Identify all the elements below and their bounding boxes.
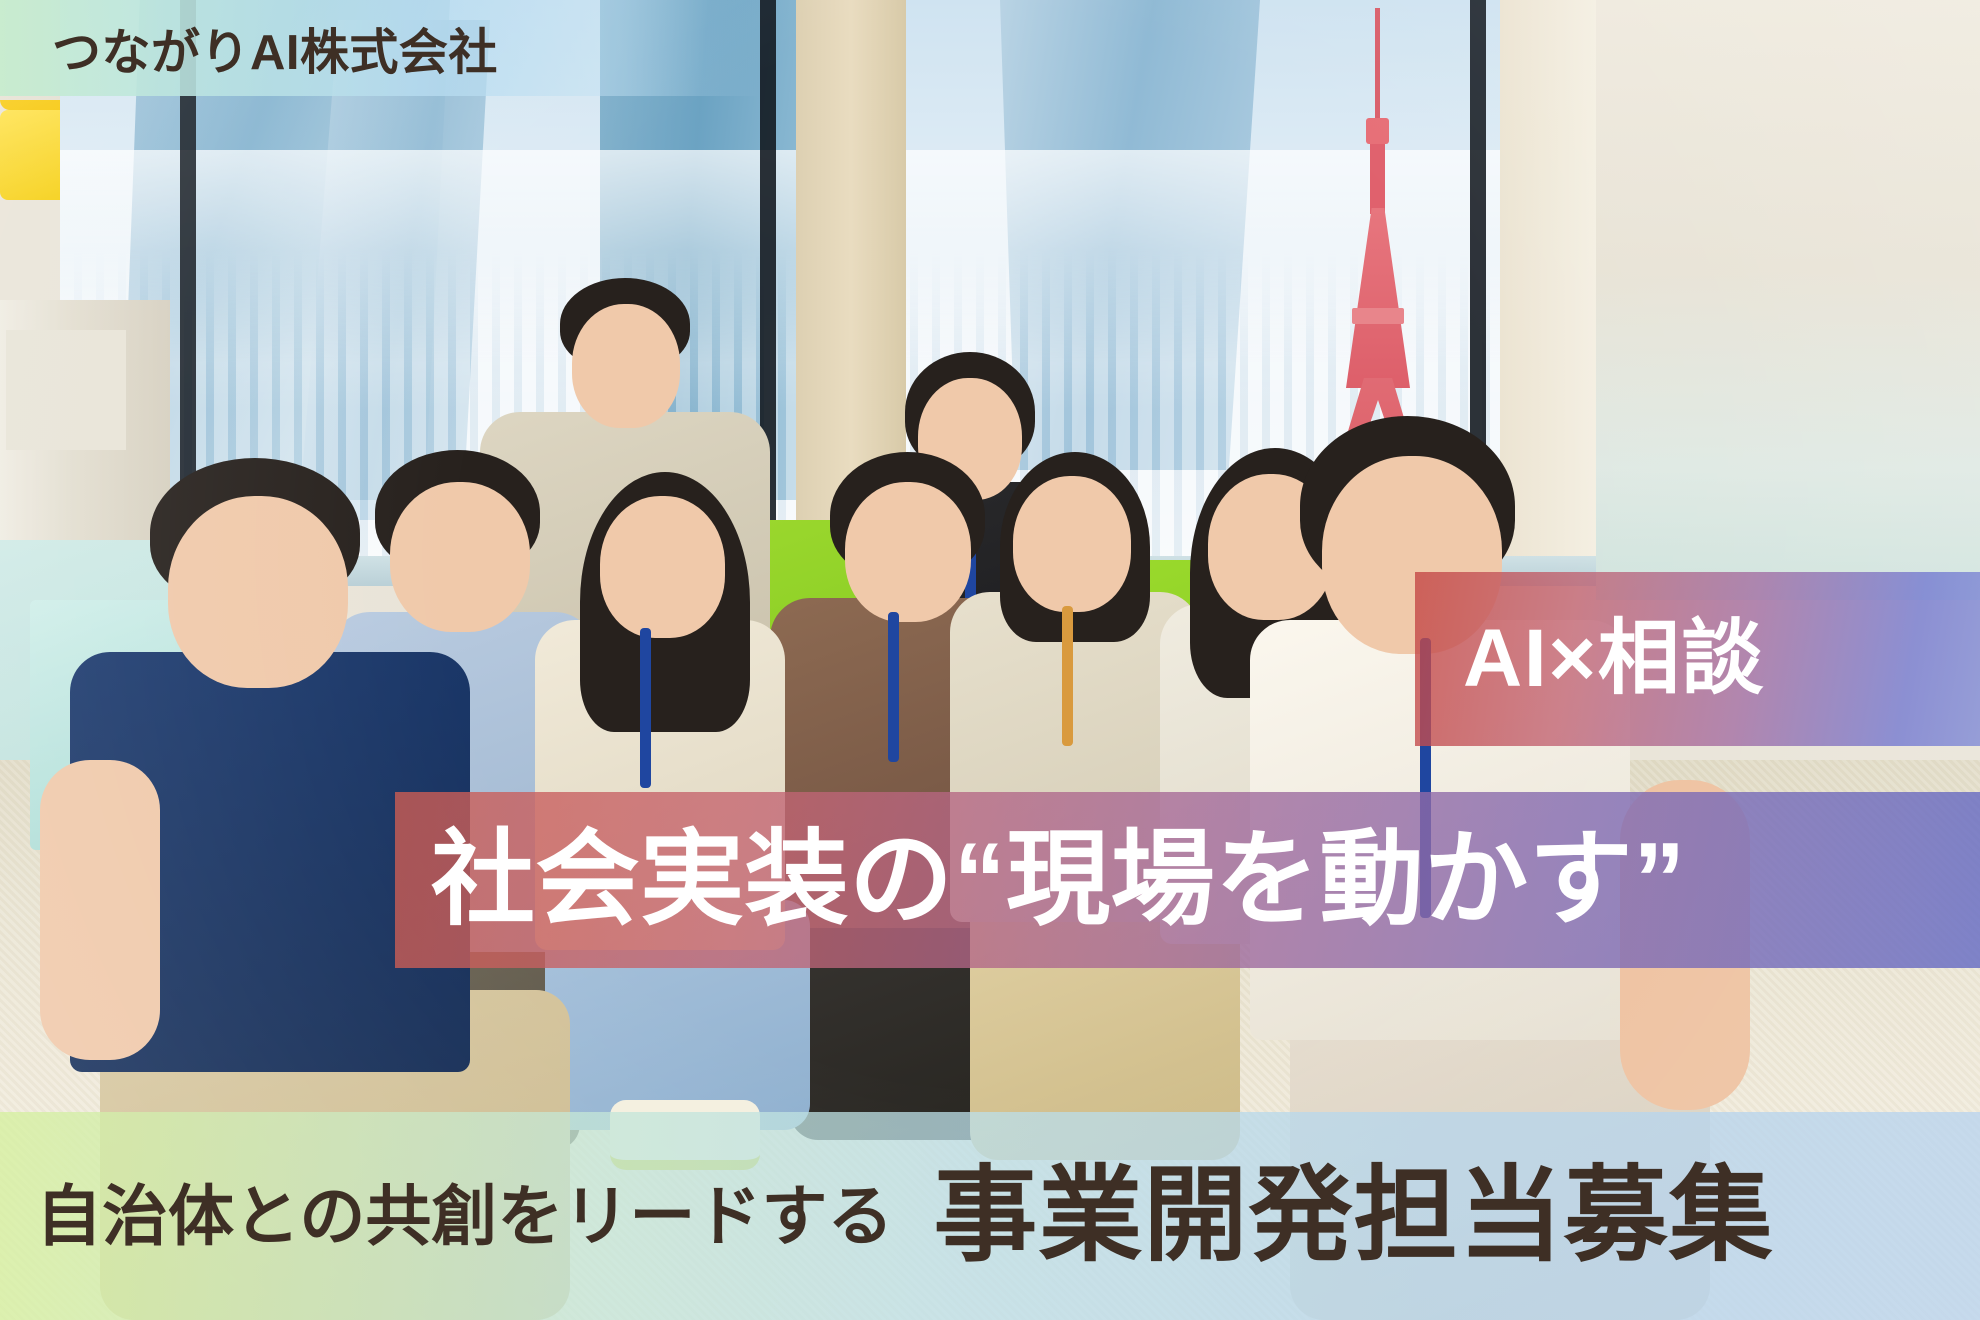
tower-neck <box>1370 144 1385 214</box>
person-head <box>390 482 530 632</box>
person-arm <box>40 760 160 1060</box>
person-head <box>168 496 348 688</box>
shelf-box-upper <box>6 330 126 450</box>
badge-label: AI×相談 <box>1415 618 1765 700</box>
window-frame-beige-2 <box>1500 0 1596 560</box>
brand-bar: つながりAI株式会社 <box>0 0 760 96</box>
recruitment-banner: つながりAI株式会社 AI×相談 社会実装の“現場を動かす” 自治体との共創をリ… <box>0 0 1980 1320</box>
person-head <box>1013 476 1131 612</box>
lanyard <box>888 612 899 762</box>
job-lead-text: 自治体との共創をリードする <box>36 1183 893 1249</box>
lanyard <box>1062 606 1073 746</box>
job-title-text: 事業開発担当募集 <box>933 1164 1773 1268</box>
headline-band: 社会実装の“現場を動かす” <box>395 792 1980 968</box>
ai-consultation-badge: AI×相談 <box>1415 572 1980 746</box>
tower-pod <box>1366 118 1389 144</box>
bottom-band: 自治体との共創をリードする 事業開発担当募集 <box>0 1112 1980 1320</box>
tower-body <box>1346 208 1410 388</box>
lanyard <box>640 628 651 788</box>
tower-mast <box>1375 8 1380 128</box>
person-head <box>572 304 680 428</box>
person-head <box>845 482 971 622</box>
interior-wall-right <box>1596 0 1980 600</box>
tokyo-tower-icon <box>1330 8 1426 478</box>
person-head <box>600 496 725 638</box>
tower-observation-deck <box>1352 308 1404 324</box>
company-name: つながりAI株式会社 <box>0 13 498 84</box>
headline-text: 社会実装の“現場を動かす” <box>395 828 1686 932</box>
